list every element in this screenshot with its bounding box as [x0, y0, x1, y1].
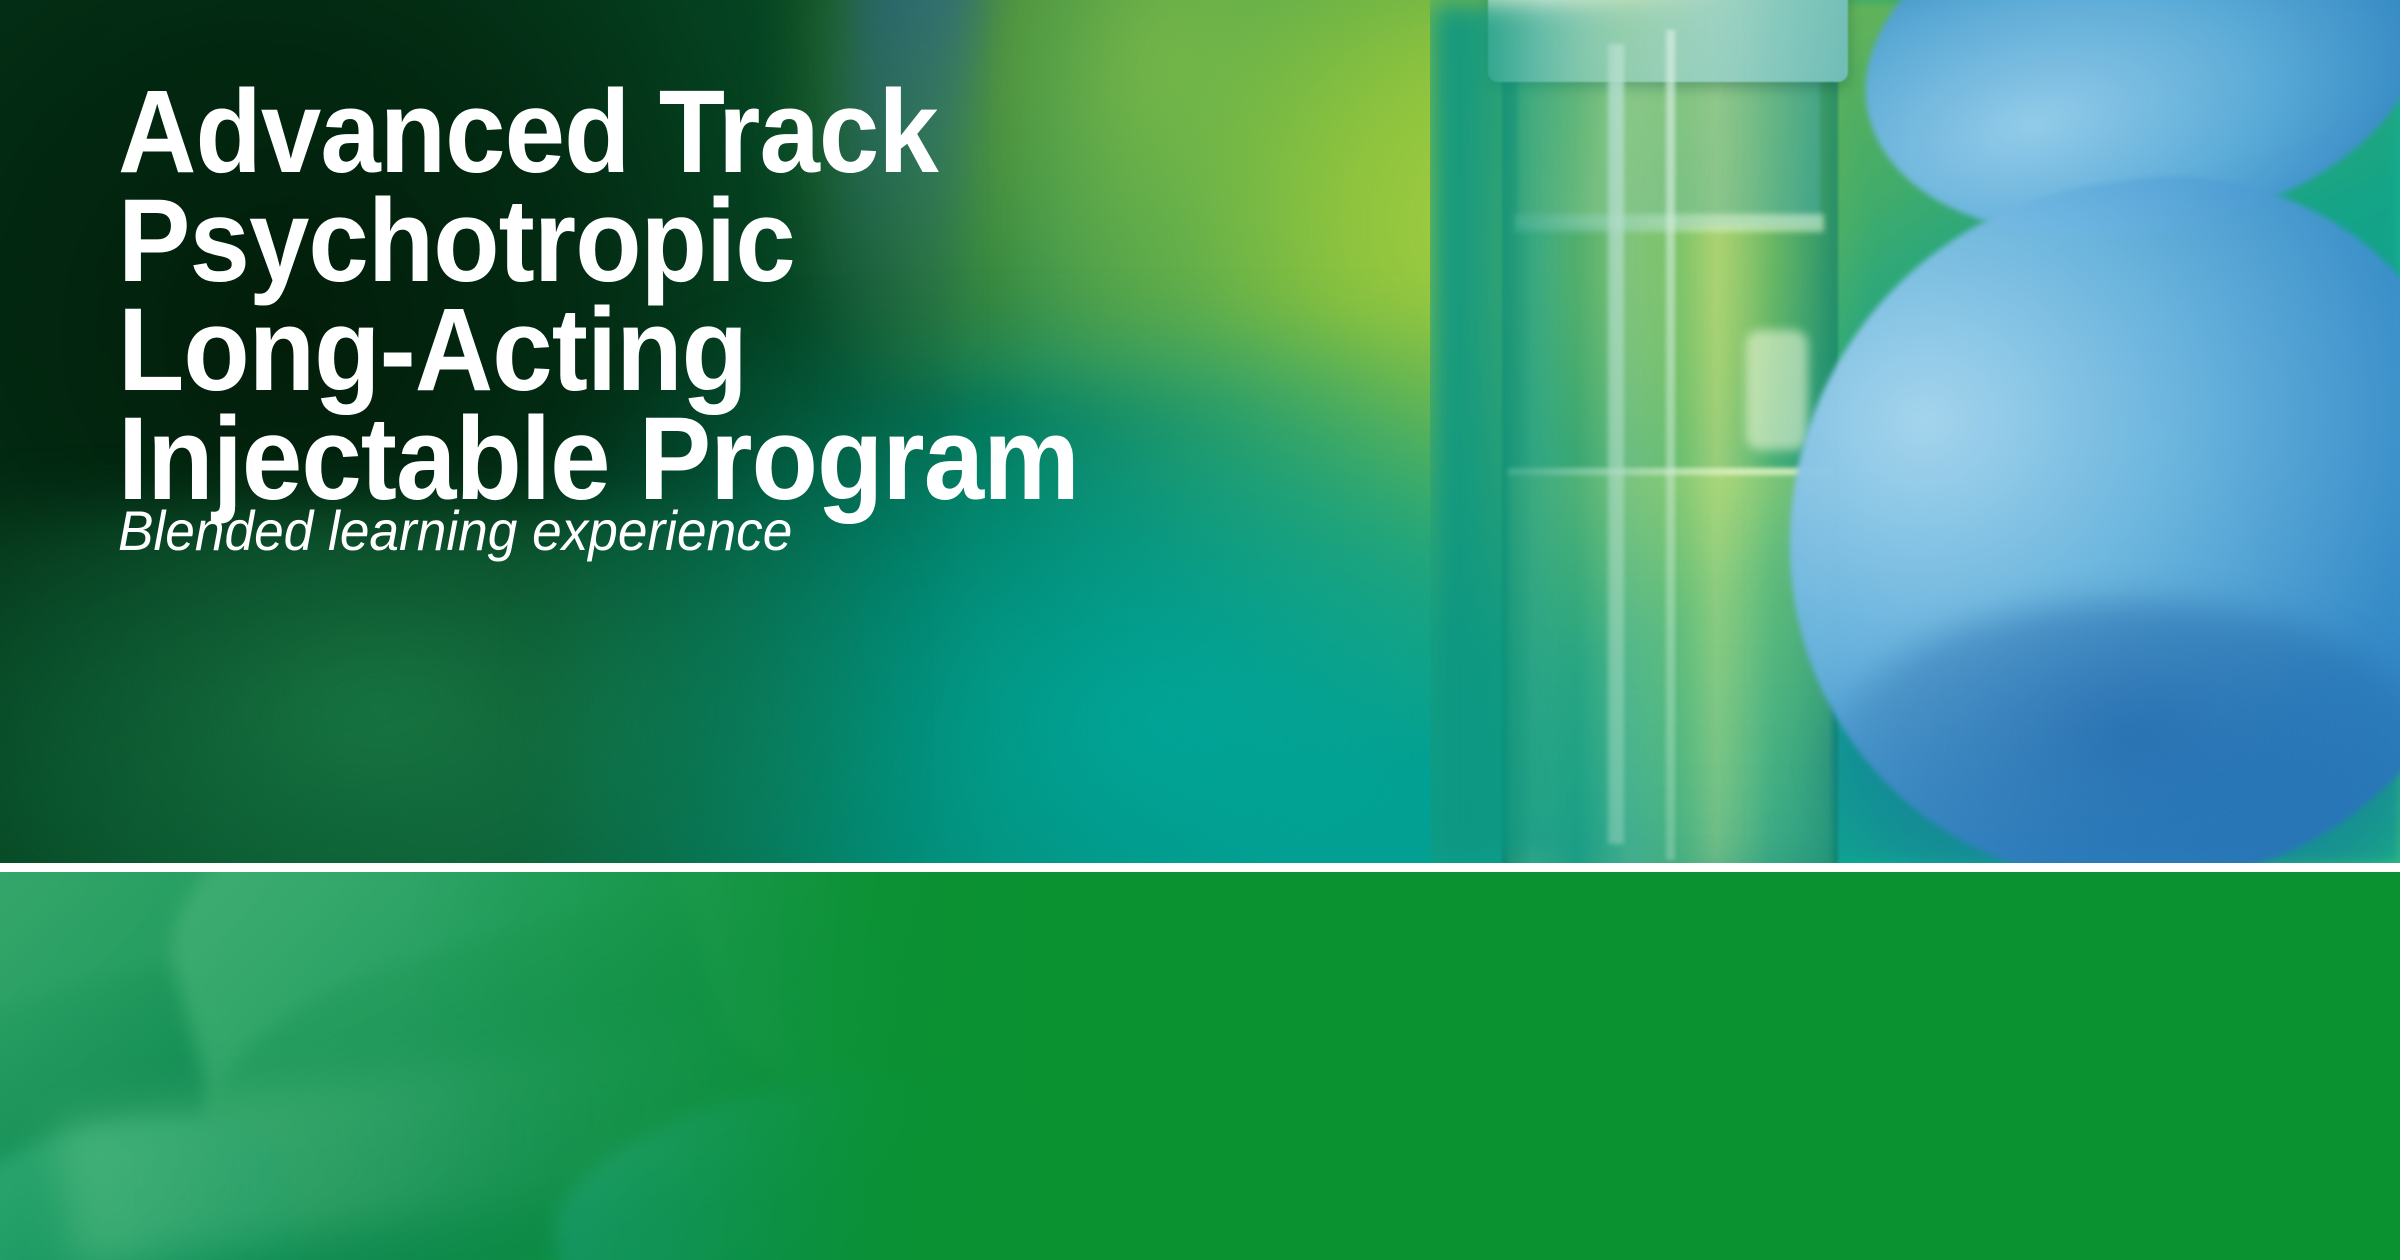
hero-panel: Advanced Track Psychotropic Long-Acting … [0, 0, 2400, 863]
headline-line-2: Psychotropic [118, 187, 1498, 296]
headline-line-4: Injectable Program [118, 405, 1498, 514]
headline-line-3: Long-Acting [118, 296, 1498, 405]
caps-photo-right-fade [0, 872, 1060, 1260]
headline: Advanced Track Psychotropic Long-Acting … [118, 78, 1618, 514]
promotional-banner: Advanced Track Psychotropic Long-Acting … [0, 0, 2400, 1260]
subtitle: Blended learning experience [118, 500, 792, 562]
vial-highlight-patch [1746, 330, 1808, 450]
promo-bar: 6 Modules, 9 CE hours No registration fe… [0, 872, 2400, 1260]
section-divider [0, 863, 2400, 872]
vial-caps-photo [0, 872, 1060, 1260]
headline-line-1: Advanced Track [118, 78, 1498, 187]
